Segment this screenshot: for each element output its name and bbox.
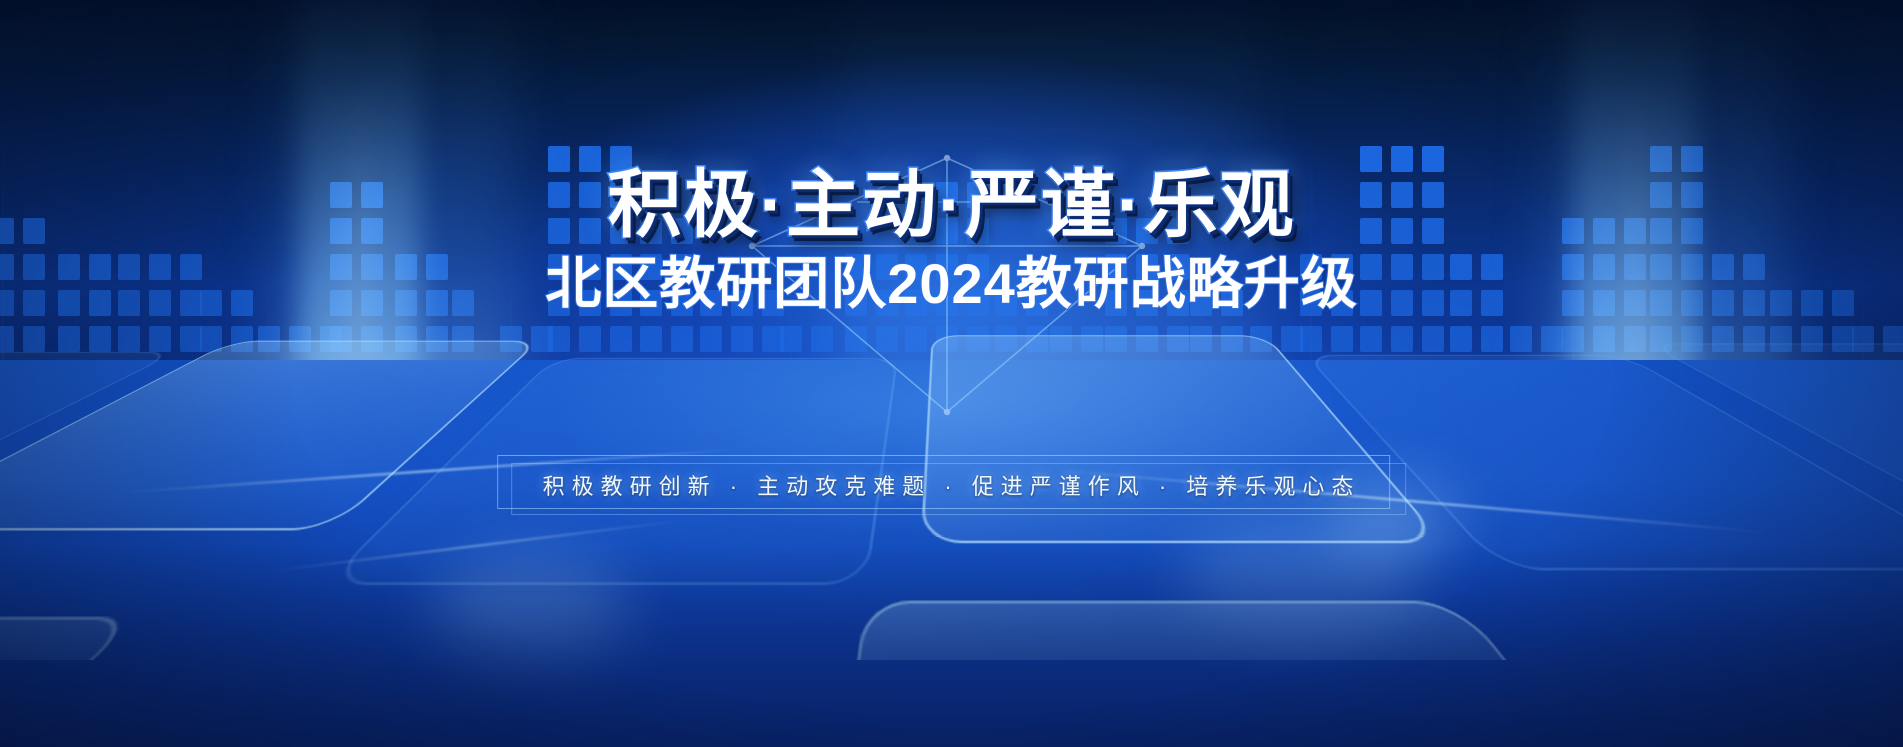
page-title: 积极·主动·严谨·乐观: [608, 168, 1296, 242]
tagline-bar: 积极教研创新 · 主动攻克难题 · 促进严谨作风 · 培养乐观心态: [497, 455, 1407, 515]
tagline-text: 积极教研创新 · 主动攻克难题 · 促进严谨作风 · 培养乐观心态: [543, 469, 1361, 501]
banner-canvas: 积极·主动·严谨·乐观 北区教研团队2024教研战略升级 积极教研创新 · 主动…: [0, 0, 1903, 747]
page-subtitle: 北区教研团队2024教研战略升级: [545, 256, 1358, 312]
floor-bottom-fade: [0, 547, 1903, 747]
title-block: 积极·主动·严谨·乐观 北区教研团队2024教研战略升级: [0, 168, 1903, 312]
tagline-frame: 积极教研创新 · 主动攻克难题 · 促进严谨作风 · 培养乐观心态: [497, 455, 1407, 515]
